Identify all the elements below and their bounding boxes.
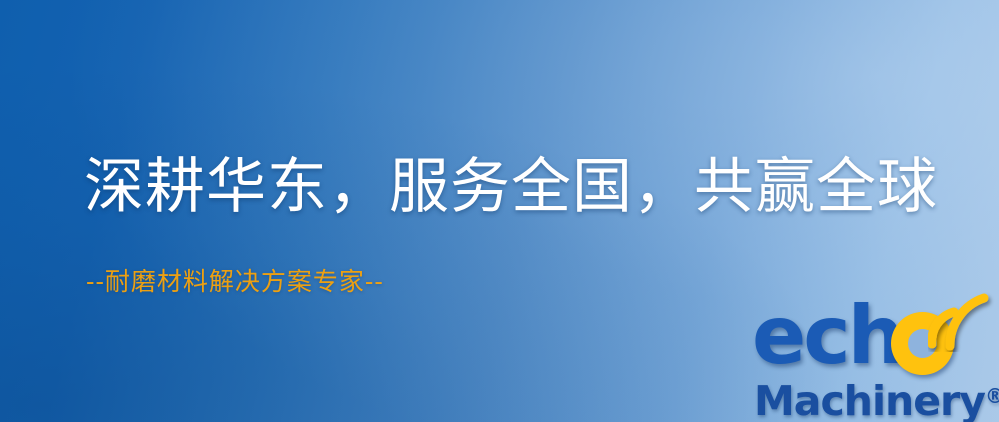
page-subtitle: --耐磨材料解决方案专家-- xyxy=(86,266,384,298)
page-title: 深耕华东，服务全国，共赢全球 xyxy=(84,152,938,222)
logo-wordmark: ech xyxy=(752,300,994,380)
brand-logo: ech Machinery® xyxy=(752,300,994,422)
logo-machinery-text: Machinery® xyxy=(754,374,999,422)
logo-machinery-label: Machinery xyxy=(754,377,985,422)
logo-echo-text: ech xyxy=(752,296,902,376)
registered-trademark-icon: ® xyxy=(985,384,999,408)
signal-waves-icon xyxy=(928,290,999,352)
promo-banner: 深耕华东，服务全国，共赢全球 --耐磨材料解决方案专家-- ech xyxy=(0,0,999,422)
